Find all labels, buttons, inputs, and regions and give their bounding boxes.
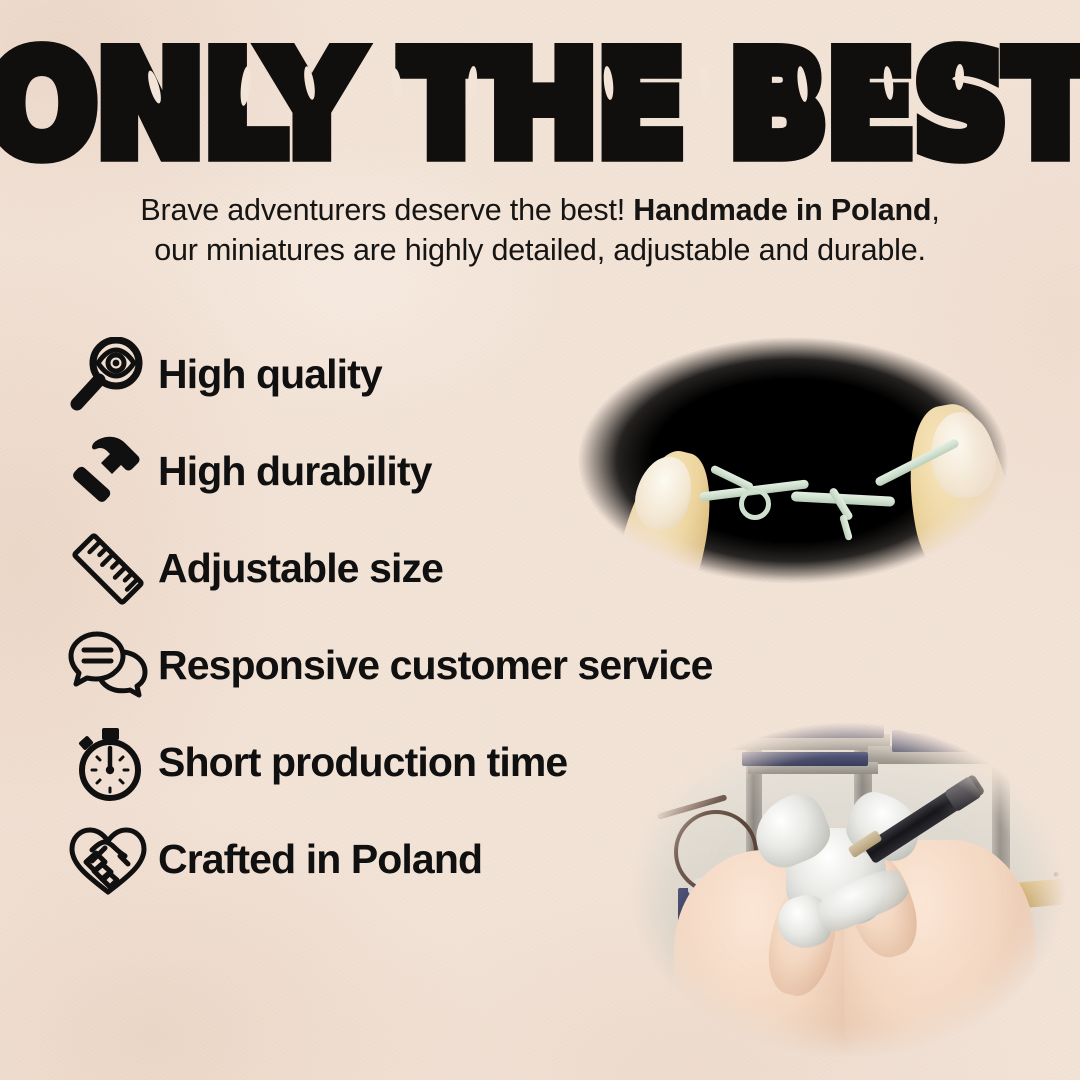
feature-label: High quality — [158, 351, 382, 398]
stopwatch-icon — [62, 721, 154, 805]
subheadline-line2: our miniatures are highly detailed, adju… — [154, 233, 926, 267]
feature-label: Short production time — [158, 739, 567, 786]
tray-mid — [742, 752, 868, 766]
ruler-icon — [62, 527, 154, 611]
feature-label: High durability — [158, 448, 432, 495]
magnifier-eye-icon — [62, 333, 154, 417]
headline-container: ONLY THE BEST — [0, 34, 1080, 152]
subheadline-line1-after: , — [931, 193, 939, 227]
speech-bubbles-icon — [62, 624, 154, 708]
promo-poster: ONLY THE BEST Brave adventurers deserve … — [0, 0, 1080, 1080]
subheadline-bold: Handmade in Poland — [633, 193, 931, 227]
flexible-miniature-photo — [533, 308, 1053, 613]
sprue-clump-2 — [968, 718, 1028, 740]
miniature-part-ring — [739, 488, 771, 520]
sprue-clump-1 — [896, 714, 952, 734]
heart-handshake-icon — [62, 818, 154, 902]
page-title: ONLY THE BEST — [0, 34, 1080, 176]
subheadline: Brave adventurers deserve the best! Hand… — [90, 190, 990, 271]
feature-label: Responsive customer service — [158, 642, 713, 689]
feature-label: Adjustable size — [158, 545, 443, 592]
subheadline-line1-before: Brave adventurers deserve the best! — [140, 193, 633, 227]
workshop-painting-photo — [596, 700, 1080, 1080]
tray-top-left — [714, 720, 884, 738]
feature-label: Crafted in Poland — [158, 836, 482, 883]
hammer-icon — [62, 430, 154, 514]
